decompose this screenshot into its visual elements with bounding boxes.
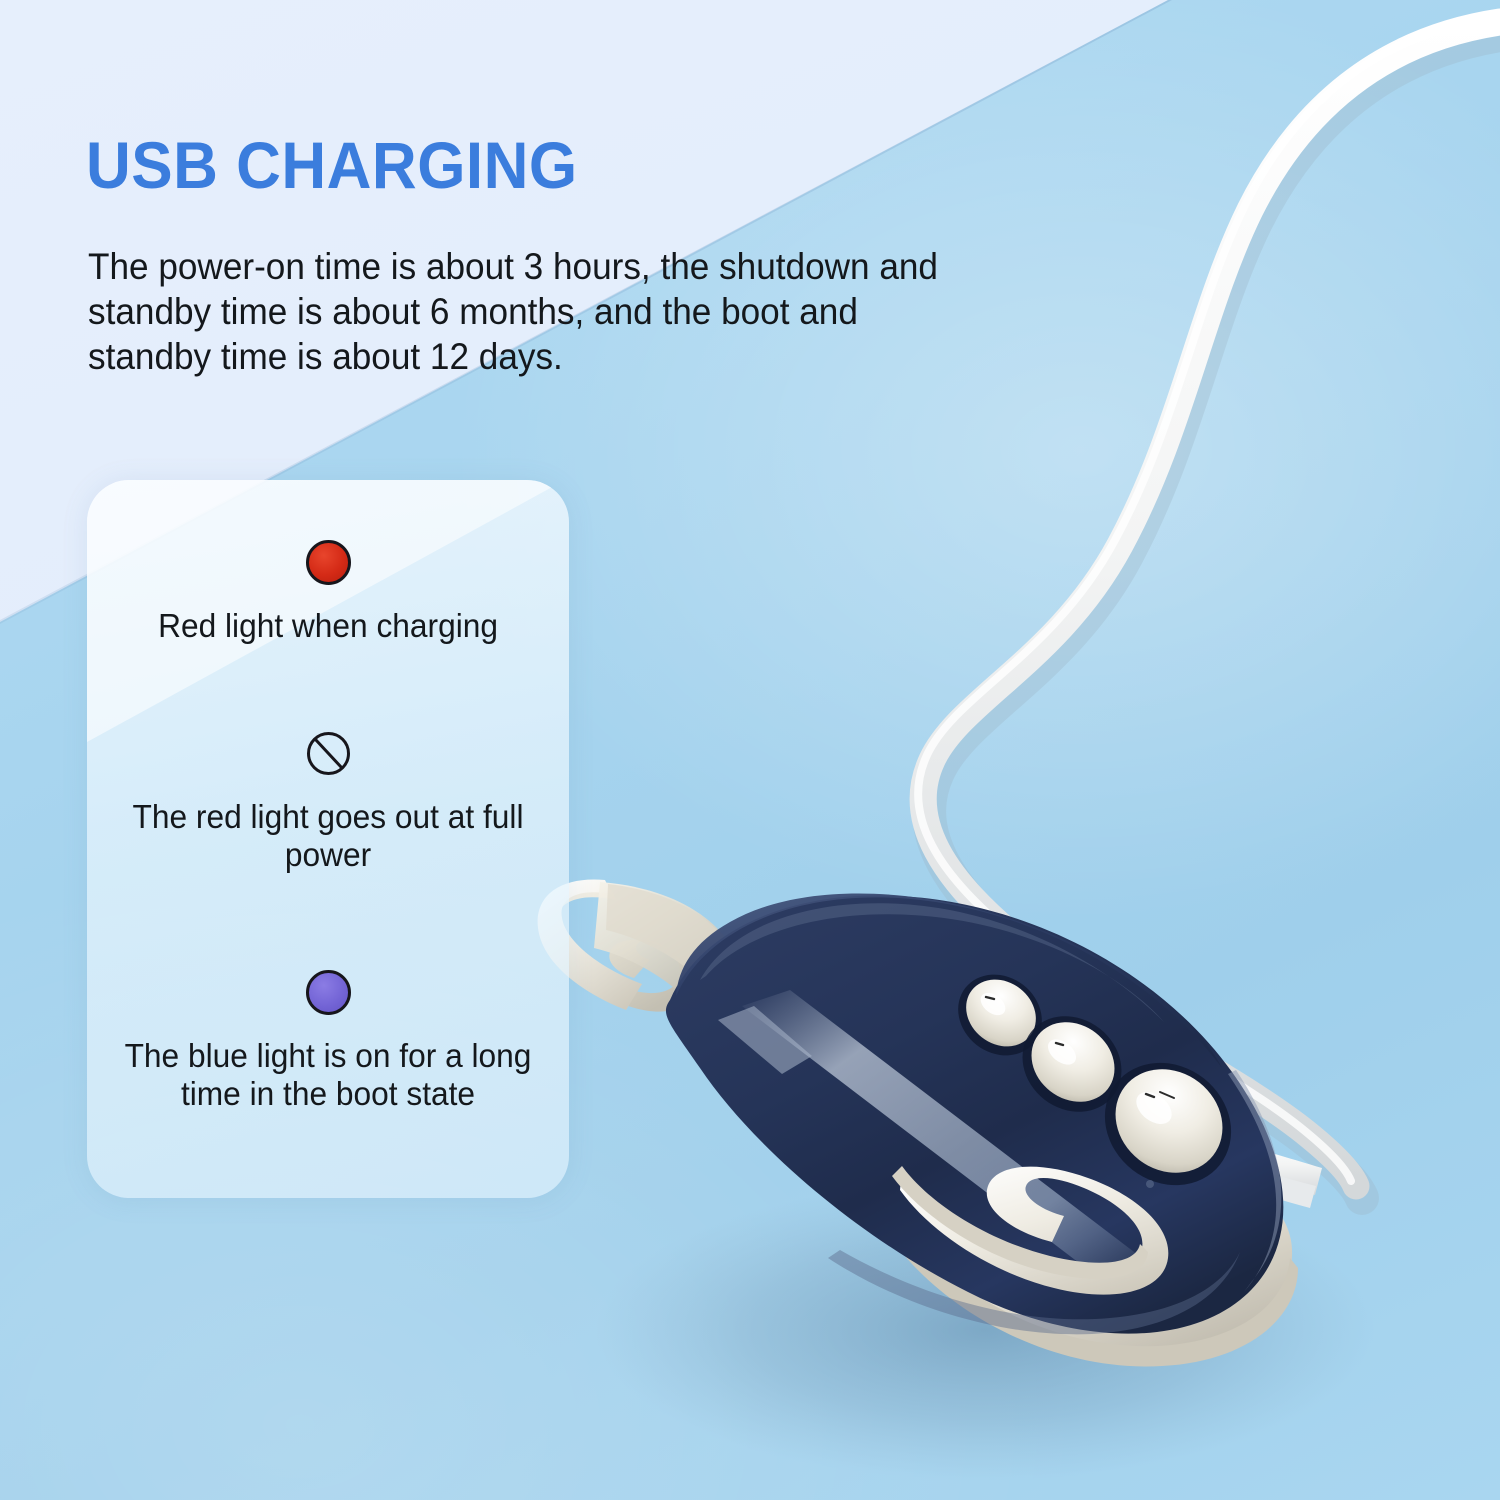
product-infographic: USB CHARGING The power-on time is about … bbox=[0, 0, 1500, 1500]
list-item-label: The blue light is on for a long time in … bbox=[122, 1037, 535, 1114]
list-item: The blue light is on for a long time in … bbox=[87, 970, 569, 1114]
page-title: USB CHARGING bbox=[86, 132, 578, 198]
red-circle-icon bbox=[306, 540, 351, 585]
prohibition-circle-slash-icon bbox=[306, 731, 351, 776]
purple-circle-icon bbox=[306, 970, 351, 1015]
indicator-info-card: Red light when charging The red light go… bbox=[87, 480, 569, 1198]
list-item-label: Red light when charging bbox=[158, 607, 498, 645]
list-item: Red light when charging bbox=[87, 540, 569, 645]
list-item: The red light goes out at full power bbox=[87, 731, 569, 875]
list-item-label: The red light goes out at full power bbox=[122, 798, 535, 875]
description-text: The power-on time is about 3 hours, the … bbox=[88, 244, 972, 379]
